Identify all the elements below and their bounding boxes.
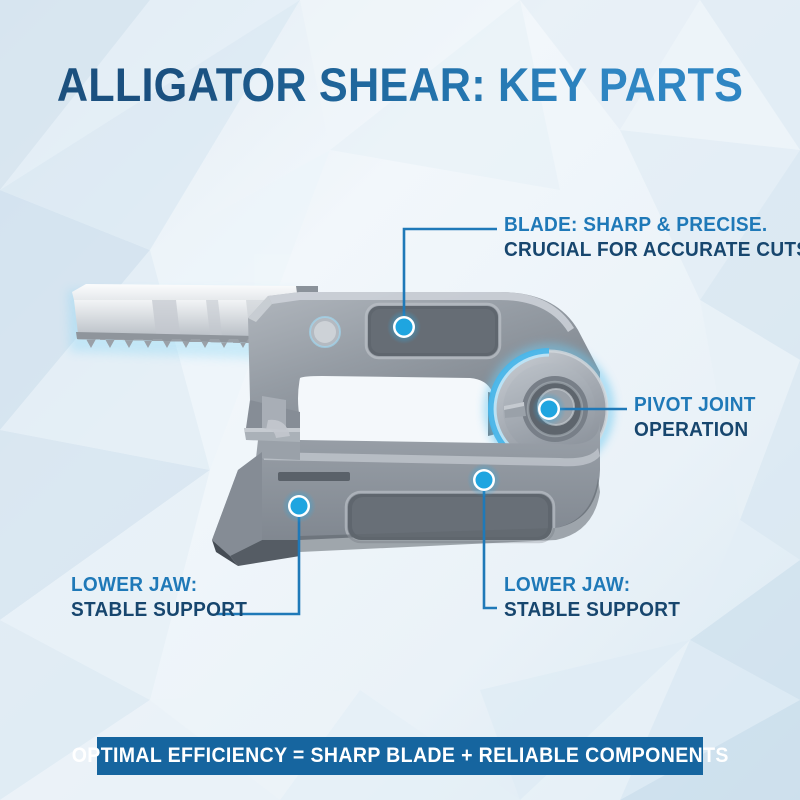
callout-blade-line2: CRUCIAL FOR ACCURATE CUTS xyxy=(504,237,800,262)
callout-pivot-line2: OPERATION xyxy=(634,417,756,442)
infographic-canvas: ALLIGATOR SHEAR: KEY PARTS BLADE: SHARP … xyxy=(0,0,800,800)
marker-lower-jaw-left[interactable] xyxy=(282,489,316,523)
marker-pivot[interactable] xyxy=(532,392,566,426)
callout-pivot-joint: PIVOT JOINT OPERATION xyxy=(634,392,756,442)
footer-banner-text: OPTIMAL EFFICIENCY = SHARP BLADE + RELIA… xyxy=(71,744,728,768)
callout-lower-right-line1: LOWER JAW: xyxy=(504,572,680,597)
page-title: ALLIGATOR SHEAR: KEY PARTS xyxy=(32,58,768,112)
marker-lower-jaw-right[interactable] xyxy=(467,463,501,497)
callout-lower-right-line2: STABLE SUPPORT xyxy=(504,597,680,622)
callout-lower-jaw-left: LOWER JAW: STABLE SUPPORT xyxy=(71,572,247,622)
footer-banner: OPTIMAL EFFICIENCY = SHARP BLADE + RELIA… xyxy=(97,737,703,775)
callout-blade-line1: BLADE: SHARP & PRECISE. xyxy=(504,212,800,237)
marker-blade[interactable] xyxy=(387,310,421,344)
callout-lower-left-line1: LOWER JAW: xyxy=(71,572,247,597)
callout-lower-jaw-right: LOWER JAW: STABLE SUPPORT xyxy=(504,572,680,622)
callout-pivot-line1: PIVOT JOINT xyxy=(634,392,756,417)
callout-lower-left-line2: STABLE SUPPORT xyxy=(71,597,247,622)
callout-blade: BLADE: SHARP & PRECISE. CRUCIAL FOR ACCU… xyxy=(504,212,800,262)
